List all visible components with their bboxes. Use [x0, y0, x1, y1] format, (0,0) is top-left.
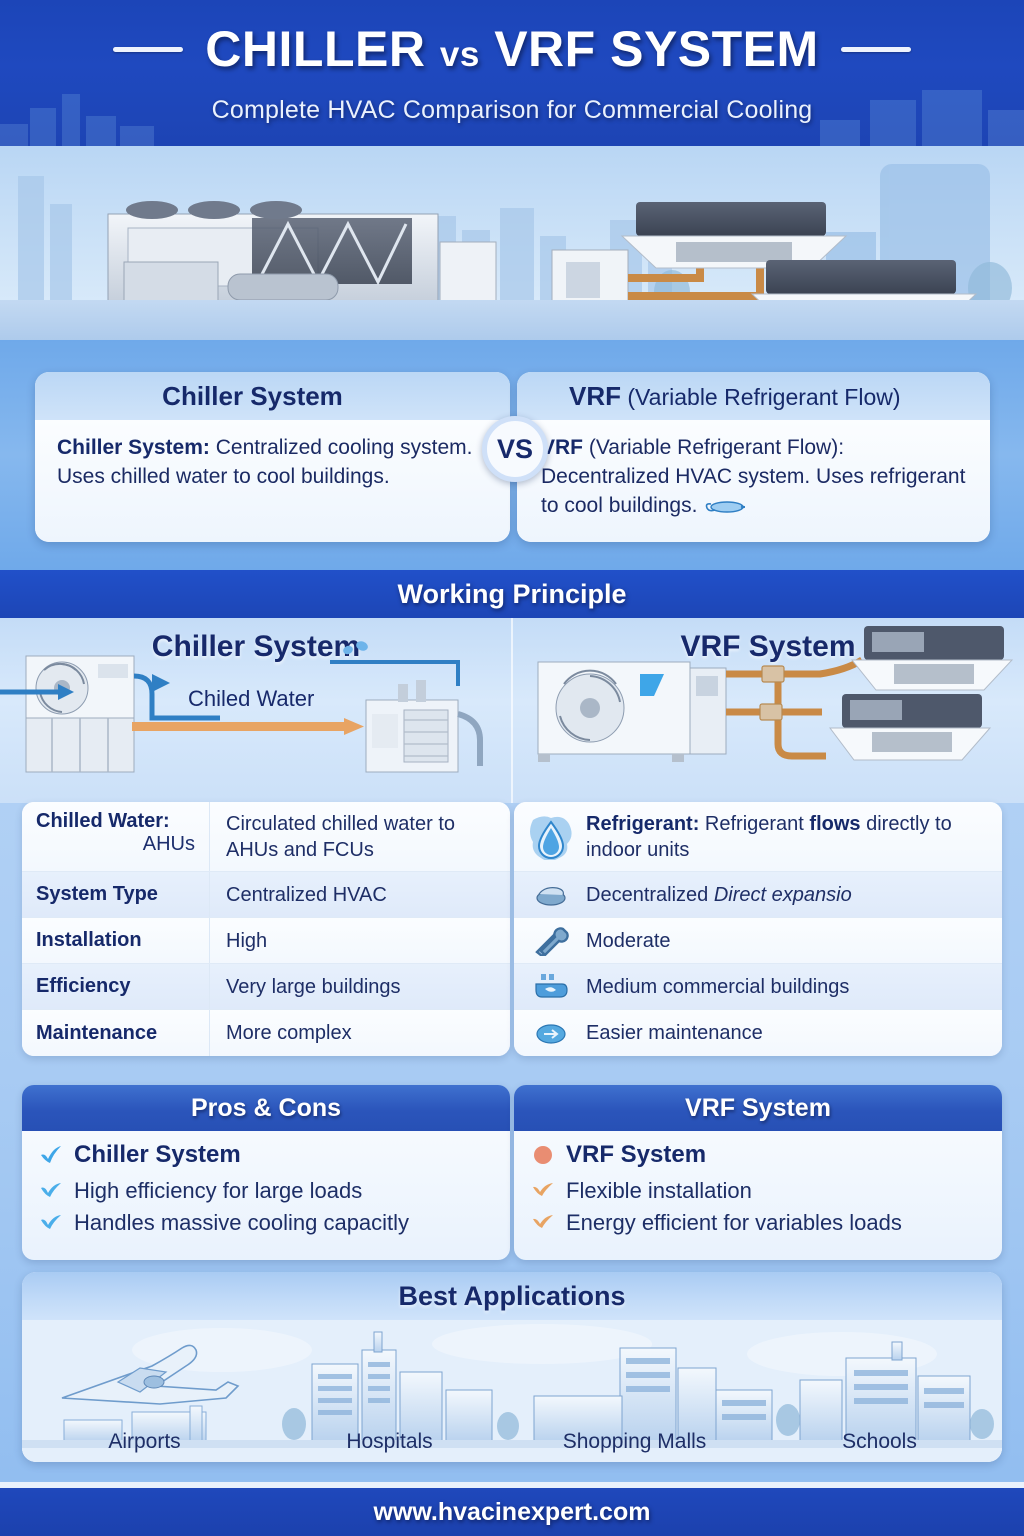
- spec-value: Moderate: [582, 928, 1002, 954]
- footer-bar: www.hvacinexpert.com: [0, 1488, 1024, 1536]
- spec-label-line2: AHUs: [36, 833, 195, 856]
- table-row: Medium commercial buildings: [514, 964, 1002, 1010]
- definition-card-chiller-header: Chiller System: [35, 372, 510, 420]
- definition-vrf-text: (Variable Refrigerant Flow): Decentraliz…: [541, 436, 965, 517]
- application-label-schools: Schools: [757, 1430, 1002, 1454]
- return-pipe: [330, 662, 458, 686]
- water-drop-icon: [520, 814, 582, 860]
- best-applications-header: Best Applications: [22, 1272, 1002, 1320]
- list-item: Energy efficient for variables loads: [530, 1210, 986, 1236]
- pros-cons-chiller-subtitle: Chiller System: [74, 1141, 241, 1169]
- title-rule-left: [113, 47, 183, 52]
- pros-cons-section: Pros & Cons Chiller System High efficien…: [0, 1085, 1024, 1260]
- cons-item-text: Flexible installation: [566, 1178, 752, 1204]
- building-chip-icon: [520, 972, 582, 1002]
- water-splash-icon: [342, 640, 369, 656]
- definition-card-chiller-body: Chiller System: Centralized cooling syst…: [35, 420, 510, 542]
- vrf-acronym: VRF: [569, 381, 621, 411]
- list-item: Chiller System: [38, 1141, 494, 1169]
- list-item: Handles massive cooling capacitly: [38, 1210, 494, 1236]
- vrf-outdoor-unit: [538, 662, 726, 762]
- pros-cons-chiller-body: Chiller System High efficiency for large…: [22, 1131, 510, 1260]
- title-rule-right: [841, 47, 911, 52]
- vs-badge: VS: [482, 416, 548, 482]
- vrf-diagram-icon: [512, 618, 1024, 803]
- table-row: Chilled Water: AHUs Circulated chilled w…: [22, 802, 510, 872]
- spec-label: System Type: [22, 872, 210, 917]
- spec-label: Chilled Water: AHUs: [22, 802, 210, 871]
- table-row: System Type Centralized HVAC: [22, 872, 510, 918]
- vrf-expansion: (Variable Refrigerant Flow): [621, 384, 901, 410]
- check-orange-icon: [530, 1180, 556, 1202]
- spec-value-text: Decentralized: [586, 884, 714, 906]
- tools-icon: [520, 926, 582, 956]
- spec-value-italic: Direct expansio: [714, 884, 852, 906]
- pros-item-text: High efficiency for large loads: [74, 1178, 362, 1204]
- spec-value: Very large buildings: [210, 974, 510, 1000]
- table-row: Easier maintenance: [514, 1010, 1002, 1056]
- definition-chiller-label: Chiller System:: [57, 436, 210, 459]
- spec-value: Medium commercial buildings: [582, 974, 1002, 1000]
- check-icon: [38, 1144, 64, 1166]
- title-vs: vs: [440, 35, 480, 74]
- definition-card-vrf-title: VRF (Variable Refrigerant Flow): [517, 381, 990, 412]
- spec-value: Easier maintenance: [582, 1020, 1002, 1046]
- cons-item-text: Energy efficient for variables loads: [566, 1210, 902, 1236]
- check-icon: [38, 1180, 64, 1202]
- definition-card-vrf-header: VRF (Variable Refrigerant Flow): [517, 372, 990, 420]
- infographic-page: CHILLER vs VRF SYSTEM Complete HVAC Comp…: [0, 0, 1024, 1536]
- title-part-2: VRF SYSTEM: [494, 21, 818, 77]
- flow-arrow-chilled: [152, 674, 170, 692]
- application-label-shopping-malls: Shopping Malls: [512, 1430, 757, 1454]
- spec-value: High: [210, 928, 510, 954]
- best-applications-body: Airports Hospitals Shopping Malls School…: [22, 1320, 1002, 1462]
- pros-cons-chiller-title: Pros & Cons: [191, 1094, 341, 1123]
- chiller-unit-icon: [108, 201, 496, 316]
- table-row: Installation High: [22, 918, 510, 964]
- cassette-top: [852, 626, 1012, 690]
- definition-card-vrf-body: VRF (Variable Refrigerant Flow): Decentr…: [517, 420, 990, 542]
- definition-card-chiller: Chiller System Chiller System: Centraliz…: [35, 372, 510, 542]
- spec-value: Decentralized Direct expansio: [582, 882, 1002, 908]
- spec-value: More complex: [210, 1020, 510, 1046]
- spec-label: Installation: [22, 918, 210, 963]
- best-applications-card: Best Applications: [22, 1272, 1002, 1462]
- header-banner: CHILLER vs VRF SYSTEM Complete HVAC Comp…: [0, 0, 1024, 146]
- list-item: Flexible installation: [530, 1178, 986, 1204]
- pros-cons-card-vrf: VRF System VRF System Flexible installat…: [514, 1085, 1002, 1260]
- comparison-tables: Chilled Water: AHUs Circulated chilled w…: [0, 802, 1024, 1072]
- spec-table-vrf: Refrigerant: Refrigerant flows directly …: [514, 802, 1002, 1056]
- spec-value: Circulated chilled water to AHUs and FCU…: [210, 811, 510, 863]
- disc-icon: [520, 882, 582, 908]
- hero-image: [0, 146, 1024, 340]
- pros-cons-vrf-header: VRF System: [514, 1085, 1002, 1131]
- check-orange-icon: [530, 1212, 556, 1234]
- title-row: CHILLER vs VRF SYSTEM: [0, 20, 1024, 78]
- definition-card-chiller-title: Chiller System: [35, 381, 510, 412]
- pros-cons-chiller-header: Pros & Cons: [22, 1085, 510, 1131]
- pros-item-text: Handles massive cooling capacitly: [74, 1210, 409, 1236]
- table-row: Efficiency Very large buildings: [22, 964, 510, 1010]
- spec-value: Refrigerant: Refrigerant flows directly …: [582, 811, 1002, 863]
- working-principle-title: Working Principle: [397, 579, 626, 610]
- spec-label: Maintenance: [22, 1010, 210, 1056]
- applications-labels-row: Airports Hospitals Shopping Malls School…: [22, 1430, 1002, 1454]
- chiller-outdoor-unit: [26, 656, 134, 772]
- application-label-hospitals: Hospitals: [267, 1430, 512, 1454]
- title-part-1: CHILLER: [205, 21, 425, 77]
- footer-website[interactable]: www.hvacinexpert.com: [374, 1498, 651, 1527]
- pros-cons-vrf-title: VRF System: [685, 1094, 831, 1123]
- cassette-unit-top: [622, 202, 846, 268]
- spec-label-line1: Chilled Water:: [36, 810, 170, 833]
- pros-cons-card-chiller: Pros & Cons Chiller System High efficien…: [22, 1085, 510, 1260]
- page-title: CHILLER vs VRF SYSTEM: [205, 20, 818, 78]
- spec-label: Efficiency: [22, 964, 210, 1009]
- definition-card-vrf: VRF (Variable Refrigerant Flow) VRF (Var…: [517, 372, 990, 542]
- pros-cons-vrf-body: VRF System Flexible installation Energy …: [514, 1131, 1002, 1260]
- definition-section: Chiller System Chiller System: Centraliz…: [0, 340, 1024, 570]
- spec-table-chiller: Chilled Water: AHUs Circulated chilled w…: [22, 802, 510, 1056]
- table-row: Refrigerant: Refrigerant flows directly …: [514, 802, 1002, 872]
- refrigerant-flow-icon: [703, 495, 745, 524]
- hero-ground: [0, 300, 1024, 340]
- best-applications-title: Best Applications: [398, 1281, 625, 1312]
- chilled-water-label: Chiled Water: [188, 686, 314, 712]
- dot-icon: [530, 1144, 556, 1166]
- spec-value: Centralized HVAC: [210, 882, 510, 908]
- table-row: Decentralized Direct expansio: [514, 872, 1002, 918]
- cassette-bottom: [830, 694, 990, 760]
- check-icon: [38, 1212, 64, 1234]
- page-subtitle: Complete HVAC Comparison for Commercial …: [0, 96, 1024, 125]
- spec-value-bold: Refrigerant:: [586, 813, 699, 835]
- list-item: VRF System: [530, 1141, 986, 1169]
- table-row: Moderate: [514, 918, 1002, 964]
- arrow-disc-icon: [520, 1020, 582, 1046]
- ahu-unit: [366, 680, 480, 772]
- pros-cons-vrf-subtitle: VRF System: [566, 1141, 706, 1169]
- working-principle-band: Working Principle: [0, 570, 1024, 618]
- orange-supply-arrow: [132, 718, 364, 735]
- diagram-section: Chiller System VRF System: [0, 618, 1024, 803]
- application-label-airports: Airports: [22, 1430, 267, 1454]
- list-item: High efficiency for large loads: [38, 1178, 494, 1204]
- table-row: Maintenance More complex: [22, 1010, 510, 1056]
